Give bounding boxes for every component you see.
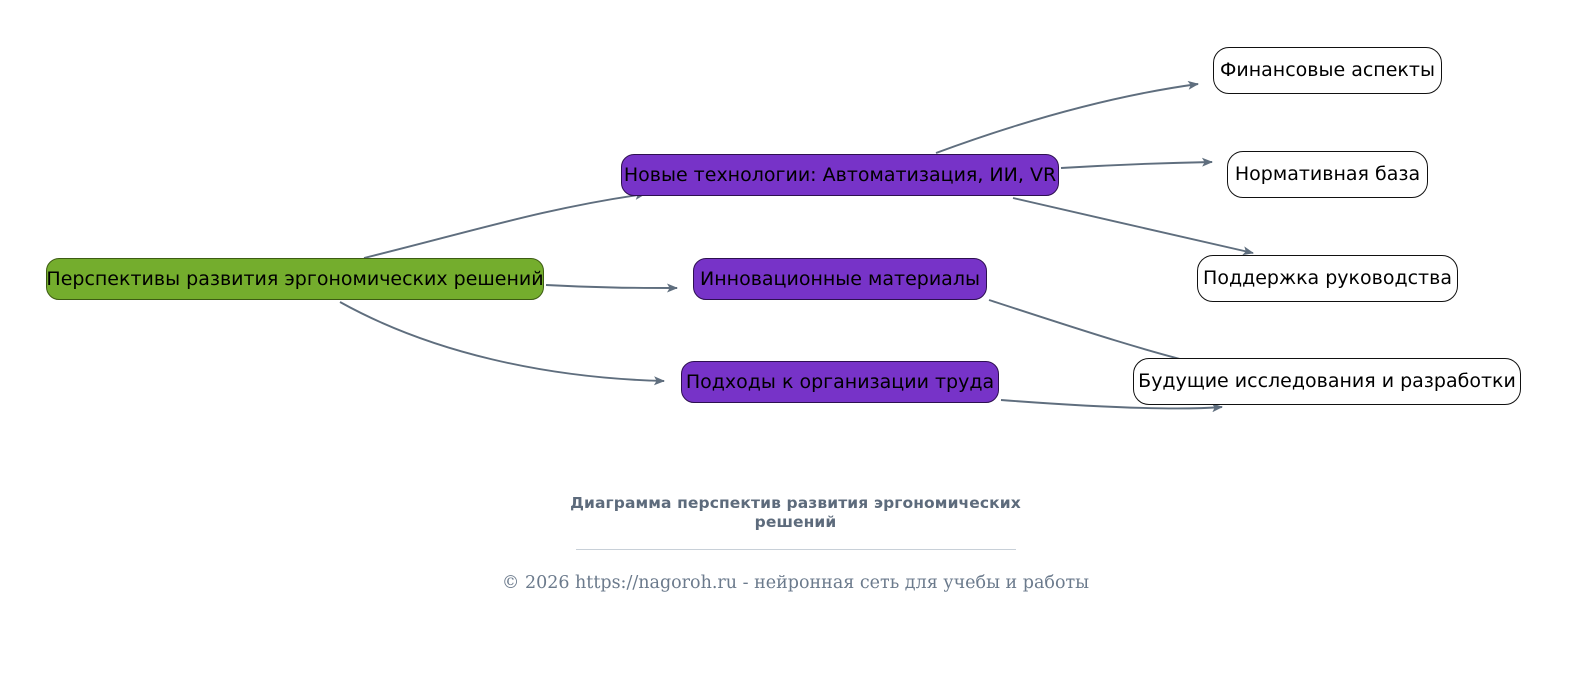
node-branch-materials[interactable]: Инновационные материалы — [693, 258, 987, 300]
edge-technologies-financial — [936, 84, 1198, 153]
edge-technologies-regulatory — [1061, 162, 1212, 168]
node-leaf-financial[interactable]: Финансовые аспекты — [1213, 47, 1442, 94]
node-branch-materials-label: Инновационные материалы — [700, 270, 980, 289]
node-branch-labor-label: Подходы к организации труда — [686, 373, 994, 392]
caption-divider — [576, 549, 1016, 550]
node-leaf-regulatory[interactable]: Нормативная база — [1227, 151, 1428, 198]
edge-materials-research — [989, 300, 1208, 366]
edge-technologies-management — [1013, 198, 1253, 253]
node-root[interactable]: Перспективы развития эргономических реше… — [46, 258, 544, 300]
node-leaf-regulatory-label: Нормативная база — [1235, 165, 1420, 184]
edge-root-technologies — [364, 194, 645, 258]
footer-text: © 2026 https://nagoroh.ru - нейронная се… — [0, 573, 1591, 593]
node-leaf-research[interactable]: Будущие исследования и разработки — [1133, 358, 1521, 405]
caption-block: Диаграмма перспектив развития эргономиче… — [0, 494, 1591, 550]
node-leaf-research-label: Будущие исследования и разработки — [1138, 372, 1516, 391]
edge-root-materials — [546, 285, 677, 288]
node-leaf-management-label: Поддержка руководства — [1203, 269, 1452, 288]
node-root-label: Перспективы развития эргономических реше… — [46, 270, 543, 289]
node-leaf-management[interactable]: Поддержка руководства — [1197, 255, 1458, 302]
node-leaf-financial-label: Финансовые аспекты — [1220, 61, 1435, 80]
node-branch-technologies-label: Новые технологии: Автоматизация, ИИ, VR — [624, 166, 1056, 185]
node-branch-technologies[interactable]: Новые технологии: Автоматизация, ИИ, VR — [621, 154, 1059, 196]
edge-root-labor — [340, 302, 664, 381]
caption-title: Диаграмма перспектив развития эргономиче… — [546, 494, 1046, 532]
node-branch-labor[interactable]: Подходы к организации труда — [681, 361, 999, 403]
